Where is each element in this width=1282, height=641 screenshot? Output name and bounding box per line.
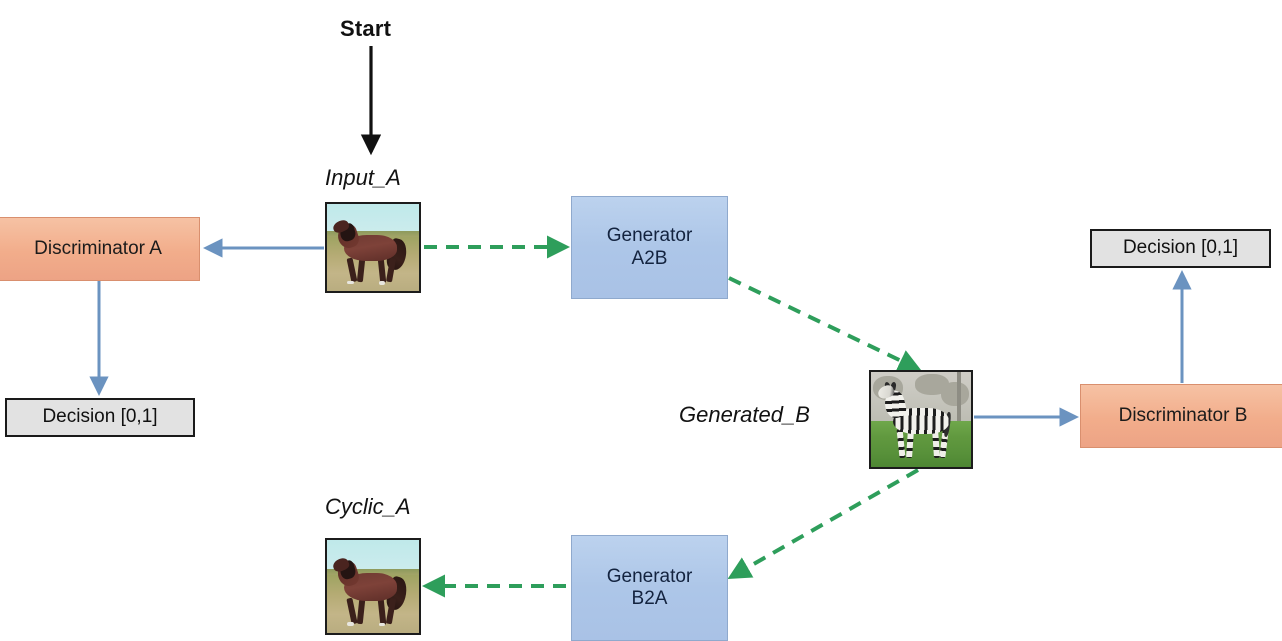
horse-photo-scene: [327, 540, 419, 633]
horse-hoof: [347, 622, 353, 626]
image-cyclic-a: [325, 538, 421, 635]
label-cyclic-a: Cyclic_A: [325, 494, 411, 520]
node-discriminator-a-label: Discriminator A: [34, 238, 162, 260]
image-input-a: [325, 202, 421, 293]
edge-generator-a2b-to-generated-b: [729, 278, 918, 369]
node-generator-a2b[interactable]: Generator A2B: [571, 196, 728, 299]
label-generated-b: Generated_B: [679, 402, 810, 428]
diagram-canvas: Start Input_A Generated_B Cyclic_A Discr…: [0, 0, 1282, 641]
node-generator-b2a-label-line2: B2A: [632, 588, 668, 610]
node-decision-left-label: Decision [0,1]: [42, 406, 157, 428]
label-start: Start: [340, 16, 391, 42]
bush: [941, 382, 969, 407]
horse-hoof: [347, 281, 353, 284]
node-discriminator-b-label: Discriminator B: [1119, 405, 1248, 427]
horse-hoof: [379, 281, 385, 284]
node-decision-left[interactable]: Decision [0,1]: [5, 398, 195, 437]
node-generator-a2b-label-line2: A2B: [632, 248, 668, 270]
node-generator-a2b-label-line1: Generator: [607, 225, 693, 247]
node-generator-b2a[interactable]: Generator B2A: [571, 535, 728, 641]
horse-photo-scene: [327, 204, 419, 291]
edge-generated-b-to-generator-b2a: [731, 470, 918, 577]
node-discriminator-a[interactable]: Discriminator A: [0, 217, 200, 281]
image-generated-b: [869, 370, 973, 469]
label-input-a: Input_A: [325, 165, 401, 191]
node-discriminator-b[interactable]: Discriminator B: [1080, 384, 1282, 448]
node-decision-right-label: Decision [0,1]: [1123, 237, 1238, 259]
node-generator-b2a-label-line1: Generator: [607, 566, 693, 588]
node-decision-right[interactable]: Decision [0,1]: [1090, 229, 1271, 268]
zebra-photo-scene: [871, 372, 971, 467]
